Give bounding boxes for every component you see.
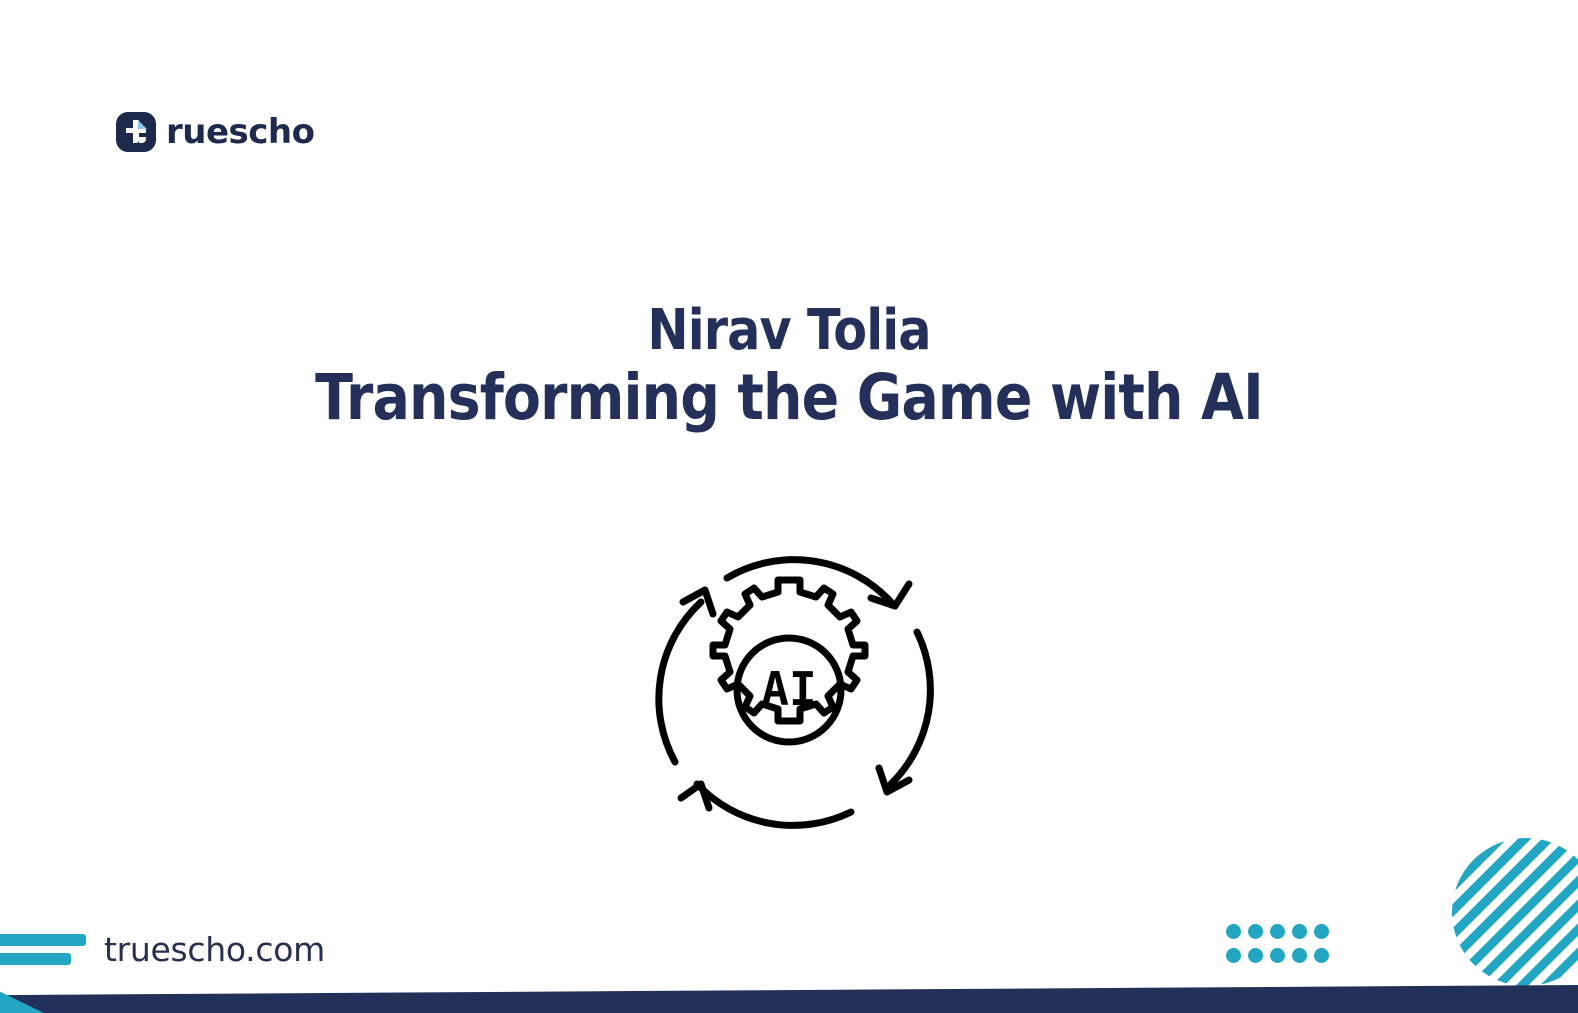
striped-circle-decoration [1452,838,1578,986]
gear-ai-label: AI [761,662,816,716]
footer-bar-top [0,934,86,946]
cycle-arrow-bottom-left [681,784,709,808]
cycle-arc-right [891,632,930,784]
brand-logo[interactable]: ruescho [116,112,315,152]
ai-gear-cycle-icon: AI [639,540,939,840]
logo-accent-flag-icon [138,120,147,129]
grid-dot [1314,948,1329,963]
title-line-secondary: Transforming the Game with AI [95,363,1484,434]
slide-canvas: ruescho Nirav Tolia Transforming the Gam… [0,0,1578,1013]
cycle-arc-left [659,602,701,762]
dot-grid-decoration [1226,924,1336,972]
footer-url[interactable]: truescho.com [104,930,325,970]
footer-bar-group [0,934,86,972]
truescho-logo-icon [116,112,156,152]
page-title: Nirav Tolia Transforming the Game with A… [0,300,1578,433]
grid-dot [1226,924,1241,939]
grid-dot [1314,924,1329,939]
grid-dot [1270,948,1285,963]
grid-dot [1248,924,1263,939]
ai-gear-cycle-svg: AI [639,540,939,840]
grid-dot [1292,948,1307,963]
grid-dot [1292,924,1307,939]
grid-dot [1248,948,1263,963]
grid-dot [1226,948,1241,963]
cycle-arc-bottom [697,784,851,825]
bottom-navy-band [0,985,1578,1013]
brand-wordmark: ruescho [166,115,315,149]
grid-dot [1270,924,1285,939]
title-line-primary: Nirav Tolia [95,300,1484,363]
footer-bar-bottom [0,953,71,965]
